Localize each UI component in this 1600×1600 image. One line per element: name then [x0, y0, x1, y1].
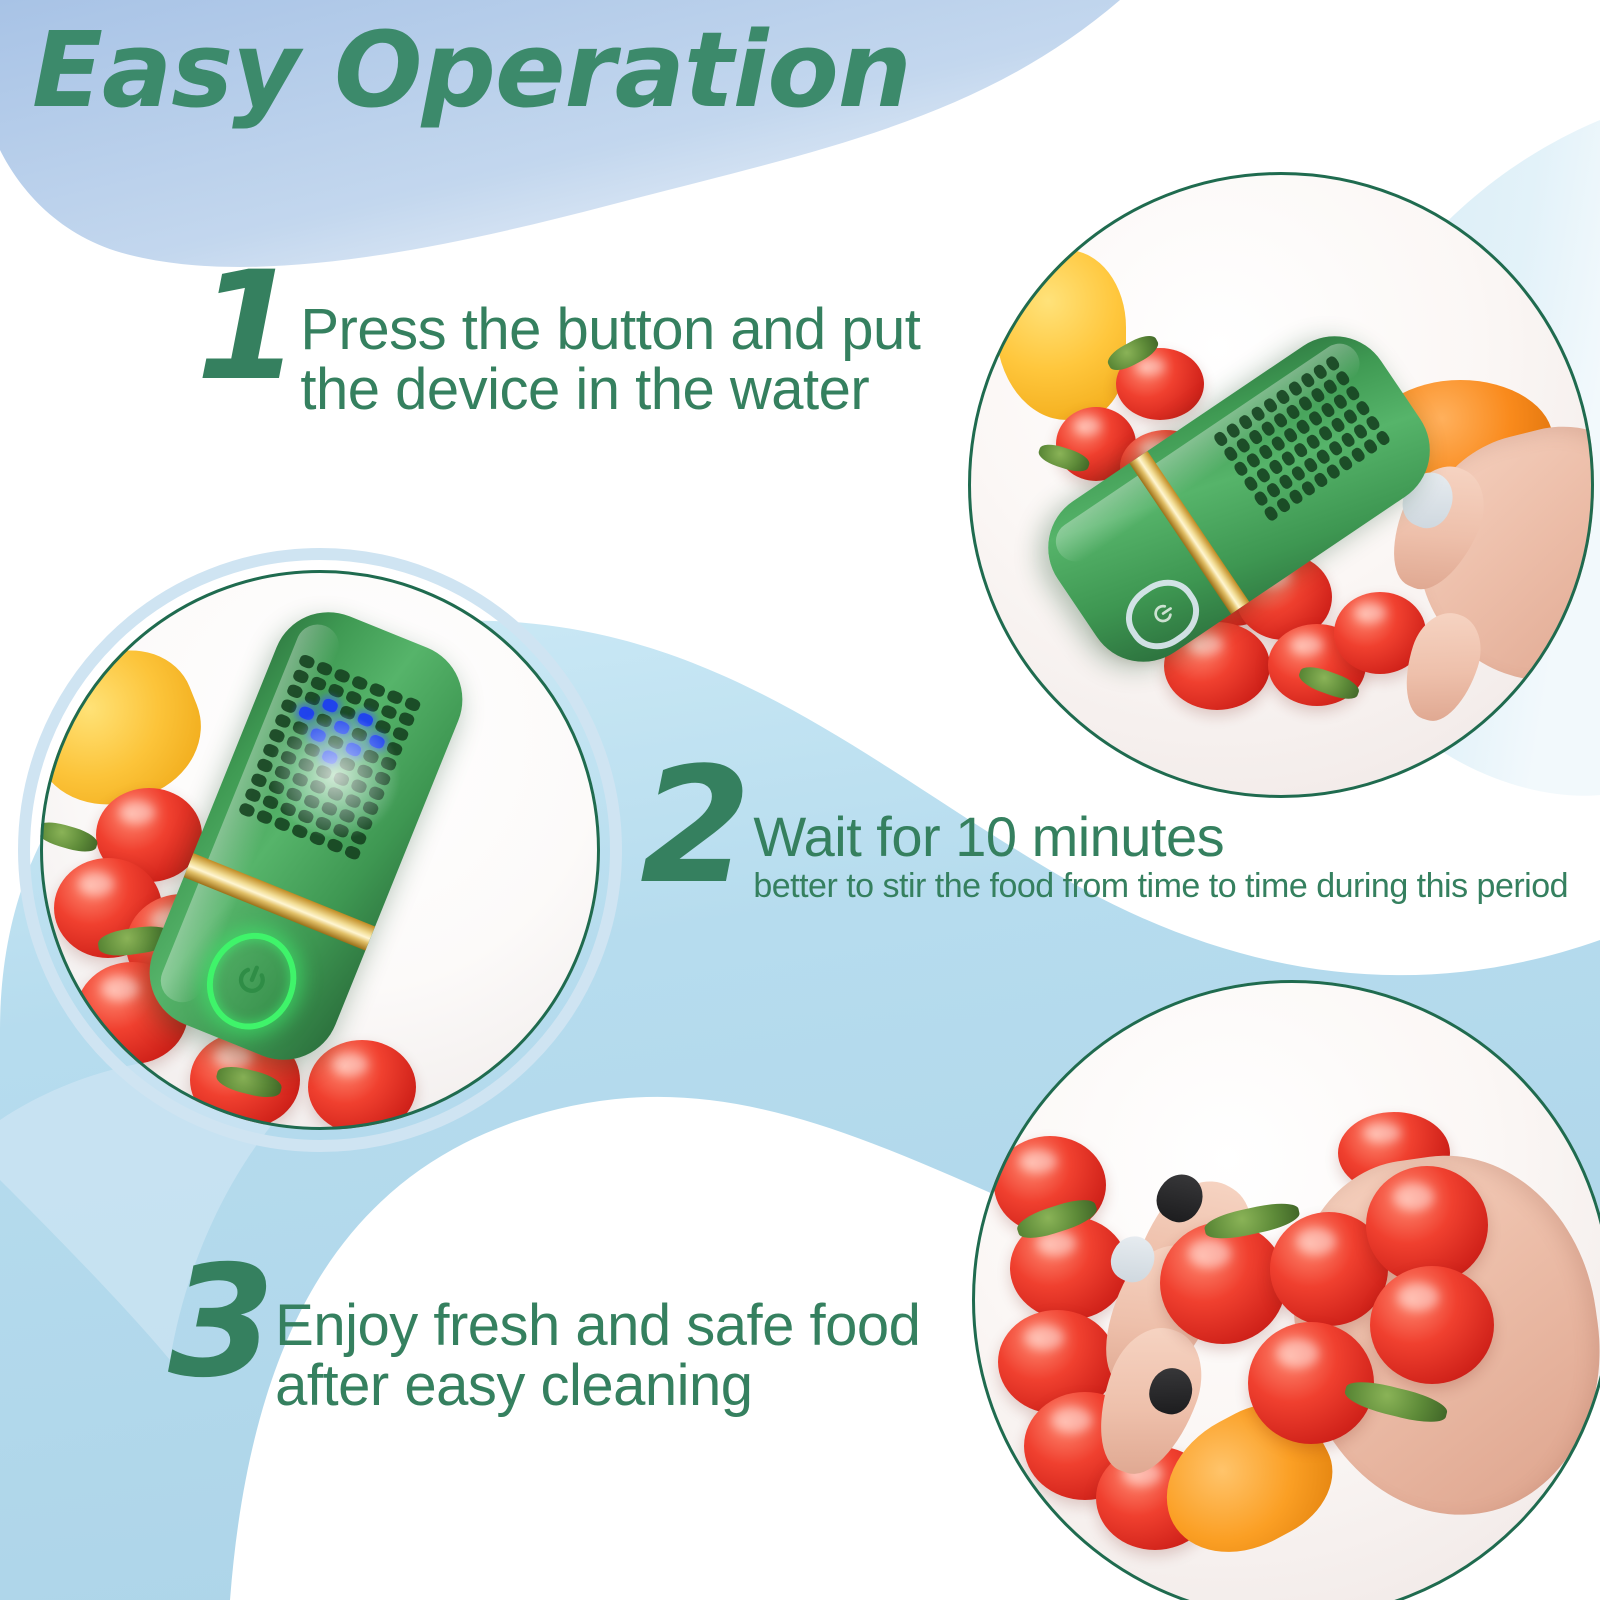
step-3-line-2: after easy cleaning	[275, 1356, 920, 1416]
tomato	[1370, 1266, 1494, 1384]
step-3-number: 3	[168, 1252, 271, 1394]
step-3-text: Enjoy fresh and safe food after easy cle…	[275, 1252, 920, 1415]
step-2-line-1: Wait for 10 minutes	[753, 808, 1568, 867]
step-2-line-2: better to stir the food from time to tim…	[753, 867, 1568, 906]
step-1-text: Press the button and put the device in t…	[300, 258, 920, 419]
easy-operation-infographic: Easy Operation 1 Press the button and pu…	[0, 0, 1600, 1600]
scene-device-in-water	[40, 570, 600, 1130]
photo-step-1	[968, 172, 1594, 798]
step-3-line-1: Enjoy fresh and safe food	[275, 1296, 920, 1356]
step-1-line-2: the device in the water	[300, 360, 920, 420]
step-2-number: 2	[640, 752, 747, 899]
step-1: 1 Press the button and put the device in…	[196, 258, 920, 419]
photo-step-3	[972, 980, 1600, 1600]
page-title: Easy Operation	[32, 18, 911, 122]
photo-step-2	[40, 570, 600, 1130]
step-1-line-1: Press the button and put	[300, 300, 920, 360]
scene-clean-tomatoes	[972, 980, 1600, 1600]
power-icon	[1142, 594, 1184, 634]
step-2: 2 Wait for 10 minutes better to stir the…	[640, 752, 1568, 906]
step-1-number: 1	[196, 258, 296, 396]
power-icon	[225, 953, 278, 1009]
scene-hand-over-bowl	[968, 172, 1594, 798]
tomato	[1160, 1222, 1286, 1344]
step-2-text: Wait for 10 minutes better to stir the f…	[753, 752, 1568, 906]
tomato	[308, 1040, 416, 1130]
step-3: 3 Enjoy fresh and safe food after easy c…	[168, 1252, 920, 1415]
